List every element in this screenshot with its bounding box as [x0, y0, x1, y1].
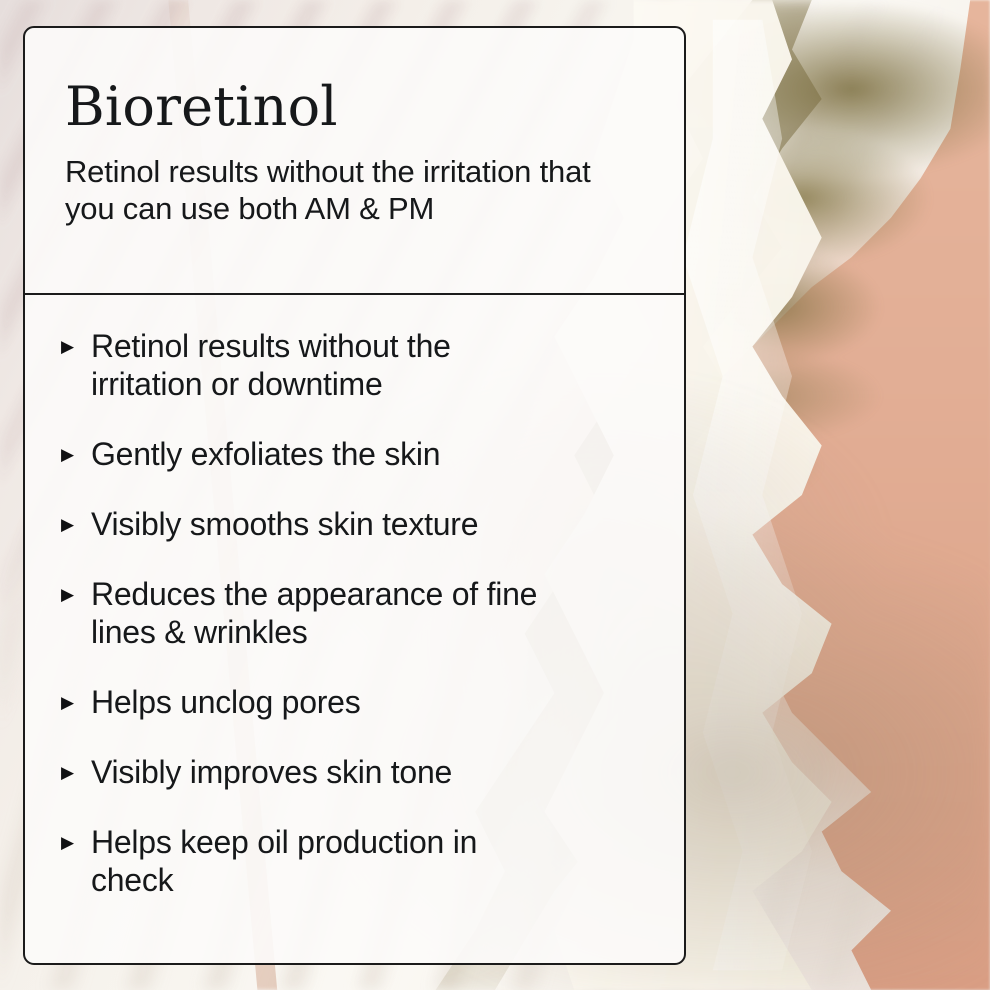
- triangle-right-icon: ▶: [61, 338, 91, 355]
- list-item: ▶ Visibly smooths skin texture: [61, 505, 648, 543]
- info-card: Bioretinol Retinol results without the i…: [23, 26, 686, 965]
- benefit-text: Retinol results without the irritation o…: [91, 327, 561, 403]
- card-header: Bioretinol Retinol results without the i…: [25, 28, 684, 295]
- triangle-right-icon: ▶: [61, 694, 91, 711]
- product-benefits-graphic: Bioretinol Retinol results without the i…: [0, 0, 990, 990]
- triangle-right-icon: ▶: [61, 446, 91, 463]
- triangle-right-icon: ▶: [61, 516, 91, 533]
- list-item: ▶ Helps keep oil production in check: [61, 823, 648, 899]
- triangle-right-icon: ▶: [61, 764, 91, 781]
- list-item: ▶ Retinol results without the irritation…: [61, 327, 648, 403]
- card-body: ▶ Retinol results without the irritation…: [25, 295, 684, 899]
- list-item: ▶ Gently exfoliates the skin: [61, 435, 648, 473]
- benefit-text: Helps keep oil production in check: [91, 823, 561, 899]
- triangle-right-icon: ▶: [61, 834, 91, 851]
- triangle-right-icon: ▶: [61, 586, 91, 603]
- list-item: ▶ Reduces the appearance of fine lines &…: [61, 575, 648, 651]
- list-item: ▶ Visibly improves skin tone: [61, 753, 648, 791]
- page-title: Bioretinol: [65, 80, 644, 134]
- list-item: ▶ Helps unclog pores: [61, 683, 648, 721]
- benefit-text: Helps unclog pores: [91, 683, 561, 721]
- benefit-text: Gently exfoliates the skin: [91, 435, 561, 473]
- benefit-list: ▶ Retinol results without the irritation…: [61, 327, 648, 899]
- card-subtitle: Retinol results without the irritation t…: [65, 153, 644, 227]
- benefit-text: Reduces the appearance of fine lines & w…: [91, 575, 561, 651]
- benefit-text: Visibly smooths skin texture: [91, 505, 561, 543]
- benefit-text: Visibly improves skin tone: [91, 753, 561, 791]
